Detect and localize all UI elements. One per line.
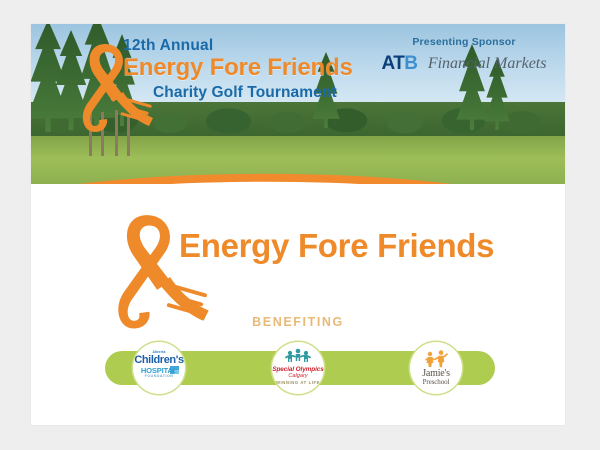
header-banner: 12th Annual Energy Fore Friends Charity … [31, 24, 565, 184]
atb-mark-b: B [404, 53, 417, 74]
ch-children-text: Children's [133, 354, 185, 366]
so-tagline-text: WINNING AT LIFE [272, 380, 324, 385]
benefiting-label: BENEFITING [31, 315, 565, 329]
presenting-sponsor-block: Presenting Sponsor ATB Financial Markets [379, 36, 549, 75]
ch-squares-icon [170, 366, 179, 374]
atb-mark-at: AT [382, 53, 405, 74]
beneficiary-logo-jamies-preschool[interactable]: Jamie's Preschool [410, 342, 462, 394]
so-city-text: Calgary [272, 373, 324, 379]
atb-wordmark: ATB [382, 53, 418, 75]
jamies-preschool-children-icon [423, 350, 449, 368]
ch-foundation-text: FOUNDATION [133, 374, 185, 378]
beneficiary-logo-childrens-hospital[interactable]: Alberta Children's HOSPITAL FOUNDATION [133, 342, 185, 394]
special-olympics-figures-icon [283, 348, 313, 366]
header-line-3: Charity Golf Tournament [123, 84, 413, 101]
header-line-2: Energy Fore Friends [123, 55, 413, 82]
header-line-1: 12th Annual [123, 38, 413, 54]
beneficiary-logo-special-olympics[interactable]: Special Olympics Calgary WINNING AT LIFE [272, 342, 324, 394]
jp-sub-text: Preschool [410, 378, 462, 386]
sponsor-label: Presenting Sponsor [379, 36, 549, 48]
poster-card: 12th Annual Energy Fore Friends Charity … [31, 24, 565, 425]
atb-logo: ATB Financial Markets [379, 53, 549, 75]
atb-name: Financial Markets [428, 55, 547, 73]
header-title-block: 12th Annual Energy Fore Friends Charity … [123, 38, 413, 101]
page-title: Energy Fore Friends [179, 227, 494, 265]
so-title-text: Special Olympics [272, 366, 324, 373]
